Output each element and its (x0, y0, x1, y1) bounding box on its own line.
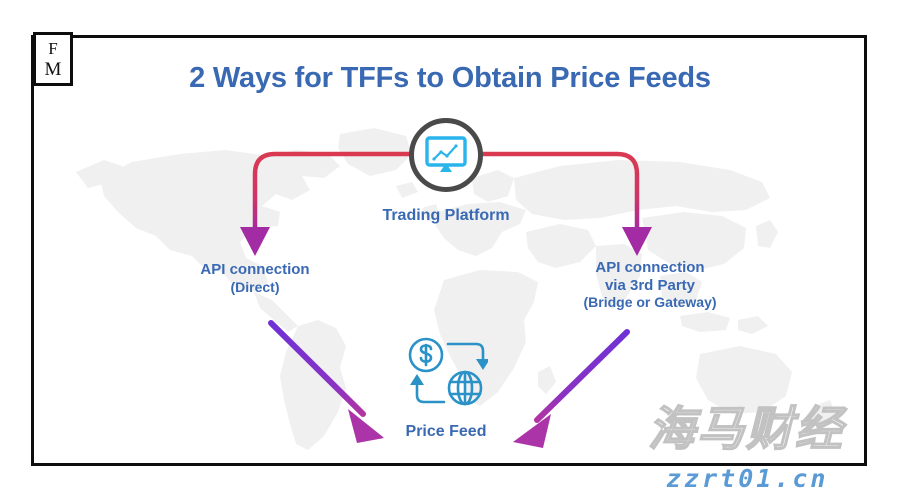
label-direct-line2: (Direct) (155, 279, 355, 296)
trading-platform-label: Trading Platform (336, 207, 556, 225)
watermark-url: zzrt01.cn (666, 466, 900, 491)
label-third-party-line1: API connection (540, 259, 760, 277)
infographic-canvas: F M 2 Ways for TFFs to Obtain Price Feed… (0, 0, 900, 499)
fm-logo-letter-f: F (48, 40, 57, 57)
label-api-connection-direct: API connection (Direct) (155, 261, 355, 295)
monitor-line-chart-icon (425, 136, 467, 174)
page-title: 2 Ways for TFFs to Obtain Price Feeds (0, 62, 900, 95)
trading-platform-node (409, 118, 483, 192)
price-feed-label: Price Feed (376, 423, 516, 441)
fm-logo-letter-m: M (45, 60, 62, 79)
currency-exchange-globe-icon (404, 334, 488, 410)
watermark-brand: 海马财经 (648, 406, 898, 453)
label-third-party-line3: (Bridge or Gateway) (540, 294, 760, 311)
fm-logo: F M (33, 32, 73, 86)
label-direct-line1: API connection (155, 261, 355, 279)
label-api-connection-third-party: API connection via 3rd Party (Bridge or … (540, 259, 760, 311)
label-third-party-line2: via 3rd Party (540, 277, 760, 295)
